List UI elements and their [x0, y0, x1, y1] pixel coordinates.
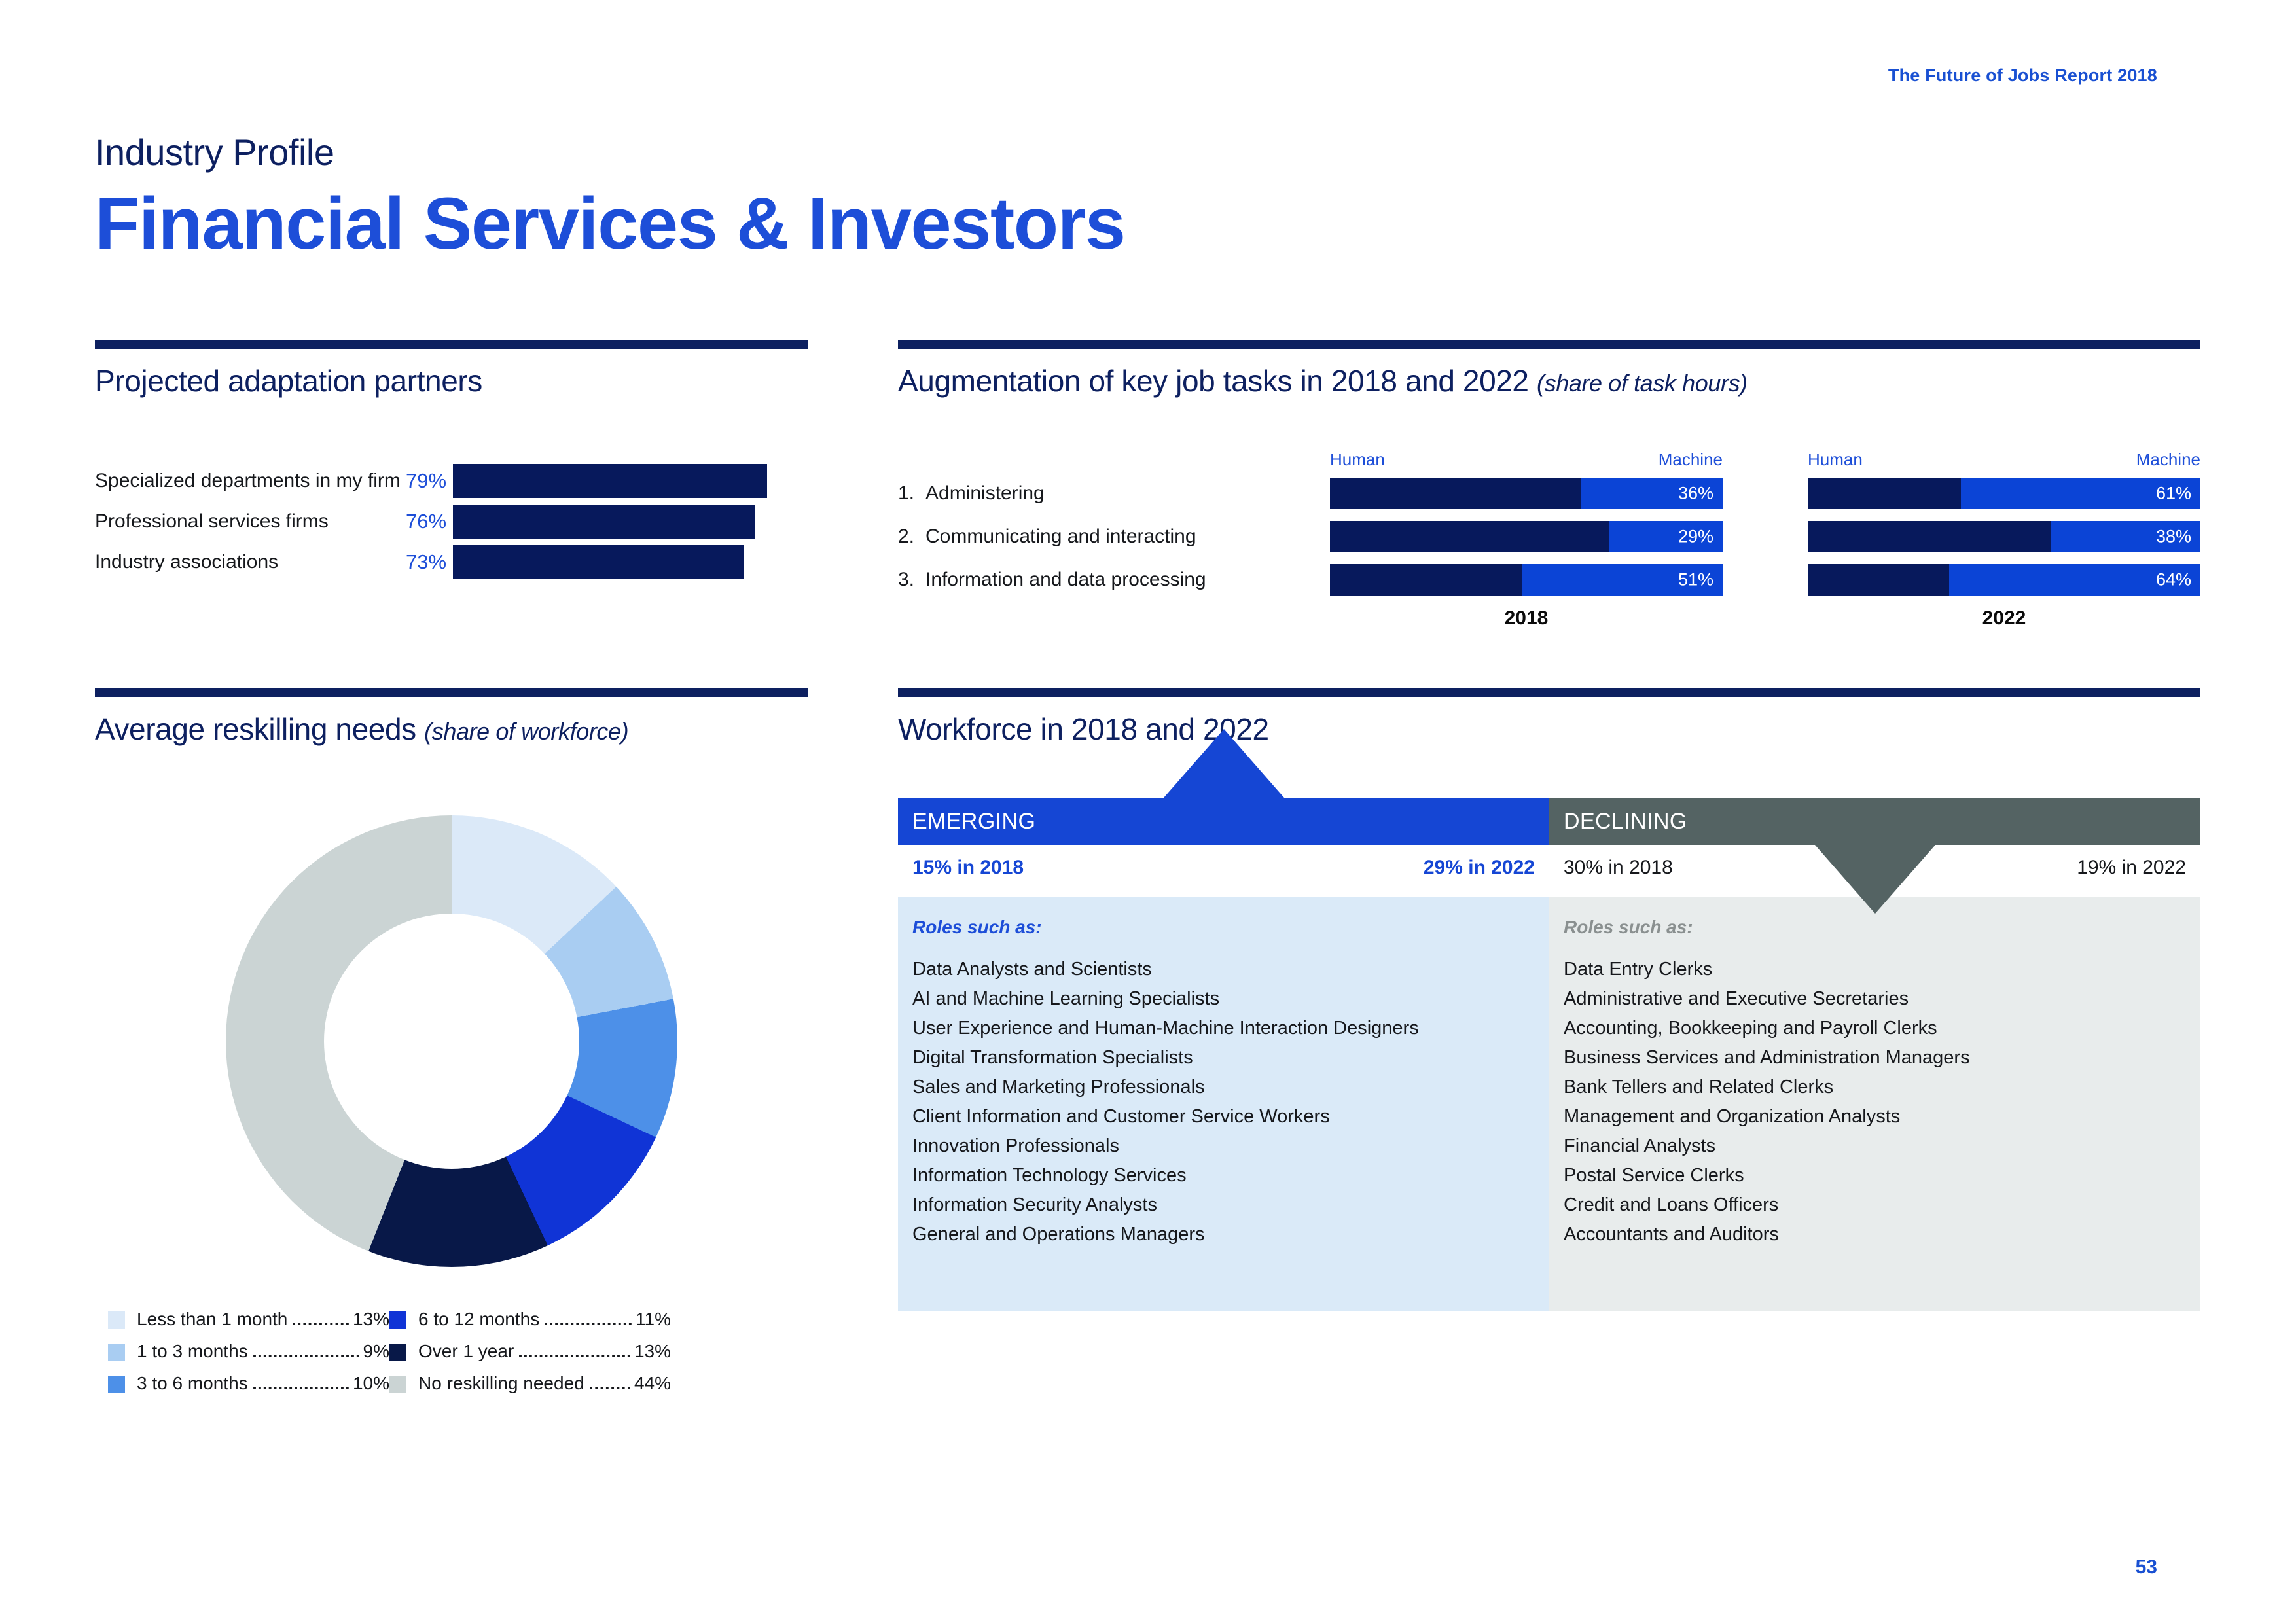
page-eyebrow: Industry Profile [95, 134, 1125, 171]
role-item: Postal Service Clerks [1564, 1161, 2186, 1190]
role-item: Sales and Marketing Professionals [912, 1073, 1535, 1102]
legend-swatch [389, 1376, 406, 1393]
panel-average-reskilling-needs: Average reskilling needs (share of workf… [95, 688, 808, 1395]
declining-band-label: DECLINING [1564, 809, 1687, 834]
augmentation-axis-headers: HumanMachine [1330, 450, 1723, 470]
legend-swatch [389, 1344, 406, 1361]
declining-roles-heading: Roles such as: [1564, 917, 2186, 938]
declining-band: DECLINING [1549, 798, 2200, 845]
augmentation-axis-headers: HumanMachine [1808, 450, 2200, 470]
declining-stat-2018: 30% in 2018 [1564, 857, 1673, 879]
role-item: Information Security Analysts [912, 1190, 1535, 1220]
workforce-body: EMERGING 15% in 2018 29% in 2022 Roles s… [898, 798, 2200, 1311]
partner-value: 76% [406, 510, 453, 533]
section-rule [898, 688, 2200, 697]
legend-swatch [108, 1376, 125, 1393]
role-item: Data Entry Clerks [1564, 955, 2186, 984]
augmentation-task-number: 2. [898, 526, 925, 548]
legend-swatch [389, 1311, 406, 1329]
segment-machine: 64% [1949, 564, 2200, 596]
workforce-column-emerging: EMERGING 15% in 2018 29% in 2022 Roles s… [898, 798, 1549, 1311]
partner-bar-track [453, 545, 808, 579]
emerging-stat-2018: 15% in 2018 [912, 857, 1024, 879]
augmentation-stacked-bar: 51% [1330, 564, 1723, 596]
partner-value: 73% [406, 550, 453, 574]
role-item: Administrative and Executive Secretaries [1564, 984, 2186, 1014]
legend-item: Over 1 year13% [389, 1341, 671, 1363]
legend-text: Over 1 year13% [418, 1341, 671, 1363]
partner-bar-track [453, 464, 808, 498]
segment-human [1808, 521, 2051, 552]
legend-swatch [108, 1344, 125, 1361]
augmentation-stacked-bar: 64% [1808, 564, 2200, 596]
legend-text: 1 to 3 months9% [137, 1341, 389, 1363]
legend-text: 3 to 6 months10% [137, 1373, 389, 1395]
legend-value: 44% [634, 1373, 671, 1394]
section-rule [95, 340, 808, 349]
section-rule [898, 340, 2200, 349]
legend-value: 10% [353, 1373, 389, 1394]
augmentation-group-2022: HumanMachine61%38%64%2022 [1808, 450, 2200, 630]
legend-value: 9% [363, 1341, 389, 1362]
panel-title-reskilling: Average reskilling needs (share of workf… [95, 711, 808, 747]
augmentation-group-2018: HumanMachine36%29%51%2018 [1330, 450, 1723, 630]
partner-bar-track [453, 505, 808, 539]
panel-title-augmentation-main: Augmentation of key job tasks in 2018 an… [898, 364, 1529, 398]
legend-label: No reskilling needed [418, 1373, 584, 1394]
role-item: Information Technology Services [912, 1161, 1535, 1190]
segment-machine-value: 38% [2156, 527, 2191, 547]
legend-label: 1 to 3 months [137, 1341, 248, 1362]
role-item: Accountants and Auditors [1564, 1220, 2186, 1249]
augmentation-year-label: 2018 [1330, 607, 1723, 630]
panel-title-partners: Projected adaptation partners [95, 363, 808, 399]
legend-swatch [108, 1311, 125, 1329]
legend-leader-dots [519, 1355, 630, 1357]
legend-value: 13% [634, 1341, 671, 1362]
panel-title-augmentation-sub: (share of task hours) [1537, 370, 1748, 397]
augmentation-body: 1.Administering2.Communicating and inter… [898, 450, 2200, 630]
legend-leader-dots [590, 1387, 630, 1389]
partner-bar [453, 464, 767, 498]
augmentation-year-label: 2022 [1808, 607, 2200, 630]
legend-value: 11% [636, 1309, 671, 1330]
panel-projected-adaptation-partners: Projected adaptation partners Specialize… [95, 340, 808, 586]
segment-machine-value: 61% [2156, 484, 2191, 504]
segment-machine: 51% [1522, 564, 1723, 596]
panel-workforce-2018-2022: Workforce in 2018 and 2022 EMERGING 15% … [898, 688, 2200, 1311]
segment-machine-value: 51% [1678, 570, 1713, 590]
augmentation-task-number: 1. [898, 482, 925, 505]
role-item: Credit and Loans Officers [1564, 1190, 2186, 1220]
partner-row: Industry associations73% [95, 545, 808, 579]
page-title-block: Industry Profile Financial Services & In… [95, 134, 1125, 263]
emerging-roles-panel: Roles such as: Data Analysts and Scienti… [898, 897, 1549, 1311]
segment-human [1808, 478, 1961, 509]
partner-label: Industry associations [95, 551, 406, 573]
legend-label: 6 to 12 months [418, 1309, 539, 1330]
segment-machine-value: 64% [2156, 570, 2191, 590]
arrow-up-icon [1164, 729, 1284, 798]
augmentation-task-number: 3. [898, 569, 925, 591]
declining-roles-panel: Roles such as: Data Entry ClerksAdminist… [1549, 897, 2200, 1311]
donut-hole [324, 914, 579, 1169]
segment-machine: 61% [1961, 478, 2200, 509]
legend-leader-dots [253, 1355, 359, 1357]
legend-label: Over 1 year [418, 1341, 514, 1362]
role-item: Client Information and Customer Service … [912, 1102, 1535, 1132]
role-item: Data Analysts and Scientists [912, 955, 1535, 984]
emerging-roles-list: Data Analysts and ScientistsAI and Machi… [912, 955, 1535, 1249]
section-rule [95, 688, 808, 697]
header-human: Human [1808, 450, 1863, 470]
legend-item: 3 to 6 months10% [108, 1373, 389, 1395]
role-item: Digital Transformation Specialists [912, 1043, 1535, 1073]
partner-value: 79% [406, 469, 453, 493]
panel-title-reskilling-sub: (share of workforce) [424, 718, 628, 745]
augmentation-stacked-bar: 38% [1808, 521, 2200, 552]
role-item: Bank Tellers and Related Clerks [1564, 1073, 2186, 1102]
legend-text: 6 to 12 months11% [418, 1309, 671, 1330]
augmentation-task-label: Administering [925, 482, 1045, 505]
partner-bar [453, 505, 755, 539]
legend-value: 13% [353, 1309, 389, 1330]
emerging-stats: 15% in 2018 29% in 2022 [898, 845, 1549, 879]
legend-label: 3 to 6 months [137, 1373, 248, 1394]
role-item: Financial Analysts [1564, 1132, 2186, 1161]
augmentation-stacked-bar: 61% [1808, 478, 2200, 509]
emerging-stat-2022: 29% in 2022 [1424, 857, 1535, 879]
segment-human [1330, 564, 1522, 596]
header-human: Human [1330, 450, 1385, 470]
augmentation-task-label: Communicating and interacting [925, 526, 1196, 548]
partner-label: Professional services firms [95, 510, 406, 533]
reskilling-legend: Less than 1 month13%6 to 12 months11%1 t… [108, 1309, 808, 1395]
header-machine: Machine [1659, 450, 1723, 470]
legend-item: Less than 1 month13% [108, 1309, 389, 1330]
segment-human [1330, 521, 1609, 552]
augmentation-stacked-bar: 29% [1330, 521, 1723, 552]
emerging-band: EMERGING [898, 798, 1549, 845]
workforce-column-declining: DECLINING 30% in 2018 19% in 2022 Roles … [1549, 798, 2200, 1311]
augmentation-task: 2.Communicating and interacting [898, 515, 1317, 558]
partner-bar [453, 545, 744, 579]
segment-machine: 38% [2051, 521, 2200, 552]
header-machine: Machine [2136, 450, 2200, 470]
segment-machine: 36% [1581, 478, 1723, 509]
panel-title-workforce: Workforce in 2018 and 2022 [898, 711, 2200, 747]
panel-title-reskilling-main: Average reskilling needs [95, 712, 416, 746]
role-item: Business Services and Administration Man… [1564, 1043, 2186, 1073]
legend-text: No reskilling needed44% [418, 1373, 671, 1395]
page-number: 53 [2136, 1556, 2157, 1578]
legend-leader-dots [253, 1387, 349, 1389]
segment-human [1330, 478, 1581, 509]
segment-human [1808, 564, 1949, 596]
legend-item: 6 to 12 months11% [389, 1309, 671, 1330]
role-item: General and Operations Managers [912, 1220, 1535, 1249]
emerging-band-label: EMERGING [912, 809, 1035, 834]
emerging-roles-heading: Roles such as: [912, 917, 1535, 938]
declining-stat-2022: 19% in 2022 [2077, 857, 2186, 879]
declining-roles-list: Data Entry ClerksAdministrative and Exec… [1564, 955, 2186, 1249]
augmentation-stacked-bar: 36% [1330, 478, 1723, 509]
reskilling-donut-chart [226, 815, 677, 1267]
legend-item: 1 to 3 months9% [108, 1341, 389, 1363]
role-item: User Experience and Human-Machine Intera… [912, 1014, 1535, 1043]
augmentation-bar-groups: HumanMachine36%29%51%2018HumanMachine61%… [1330, 450, 2200, 630]
augmentation-task: 3.Information and data processing [898, 558, 1317, 601]
augmentation-task-label: Information and data processing [925, 569, 1206, 591]
report-running-head: The Future of Jobs Report 2018 [1888, 65, 2157, 86]
panel-augmentation-of-key-job-tasks: Augmentation of key job tasks in 2018 an… [898, 340, 2200, 630]
role-item: AI and Machine Learning Specialists [912, 984, 1535, 1014]
segment-machine-value: 36% [1678, 484, 1713, 504]
role-item: Accounting, Bookkeeping and Payroll Cler… [1564, 1014, 2186, 1043]
legend-leader-dots [545, 1323, 632, 1325]
legend-item: No reskilling needed44% [389, 1373, 671, 1395]
arrow-down-icon [1815, 845, 1935, 914]
augmentation-task-list: 1.Administering2.Communicating and inter… [898, 472, 1317, 601]
legend-text: Less than 1 month13% [137, 1309, 389, 1330]
partner-row: Professional services firms76% [95, 505, 808, 539]
segment-machine-value: 29% [1678, 527, 1713, 547]
legend-label: Less than 1 month [137, 1309, 287, 1330]
partners-bar-chart: Specialized departments in my firm79%Pro… [95, 464, 808, 579]
augmentation-task: 1.Administering [898, 472, 1317, 515]
page-title: Financial Services & Investors [95, 185, 1125, 263]
panel-title-augmentation: Augmentation of key job tasks in 2018 an… [898, 363, 2200, 399]
legend-leader-dots [293, 1323, 349, 1325]
role-item: Innovation Professionals [912, 1132, 1535, 1161]
role-item: Management and Organization Analysts [1564, 1102, 2186, 1132]
partner-label: Specialized departments in my firm [95, 470, 406, 492]
partner-row: Specialized departments in my firm79% [95, 464, 808, 498]
segment-machine: 29% [1609, 521, 1723, 552]
